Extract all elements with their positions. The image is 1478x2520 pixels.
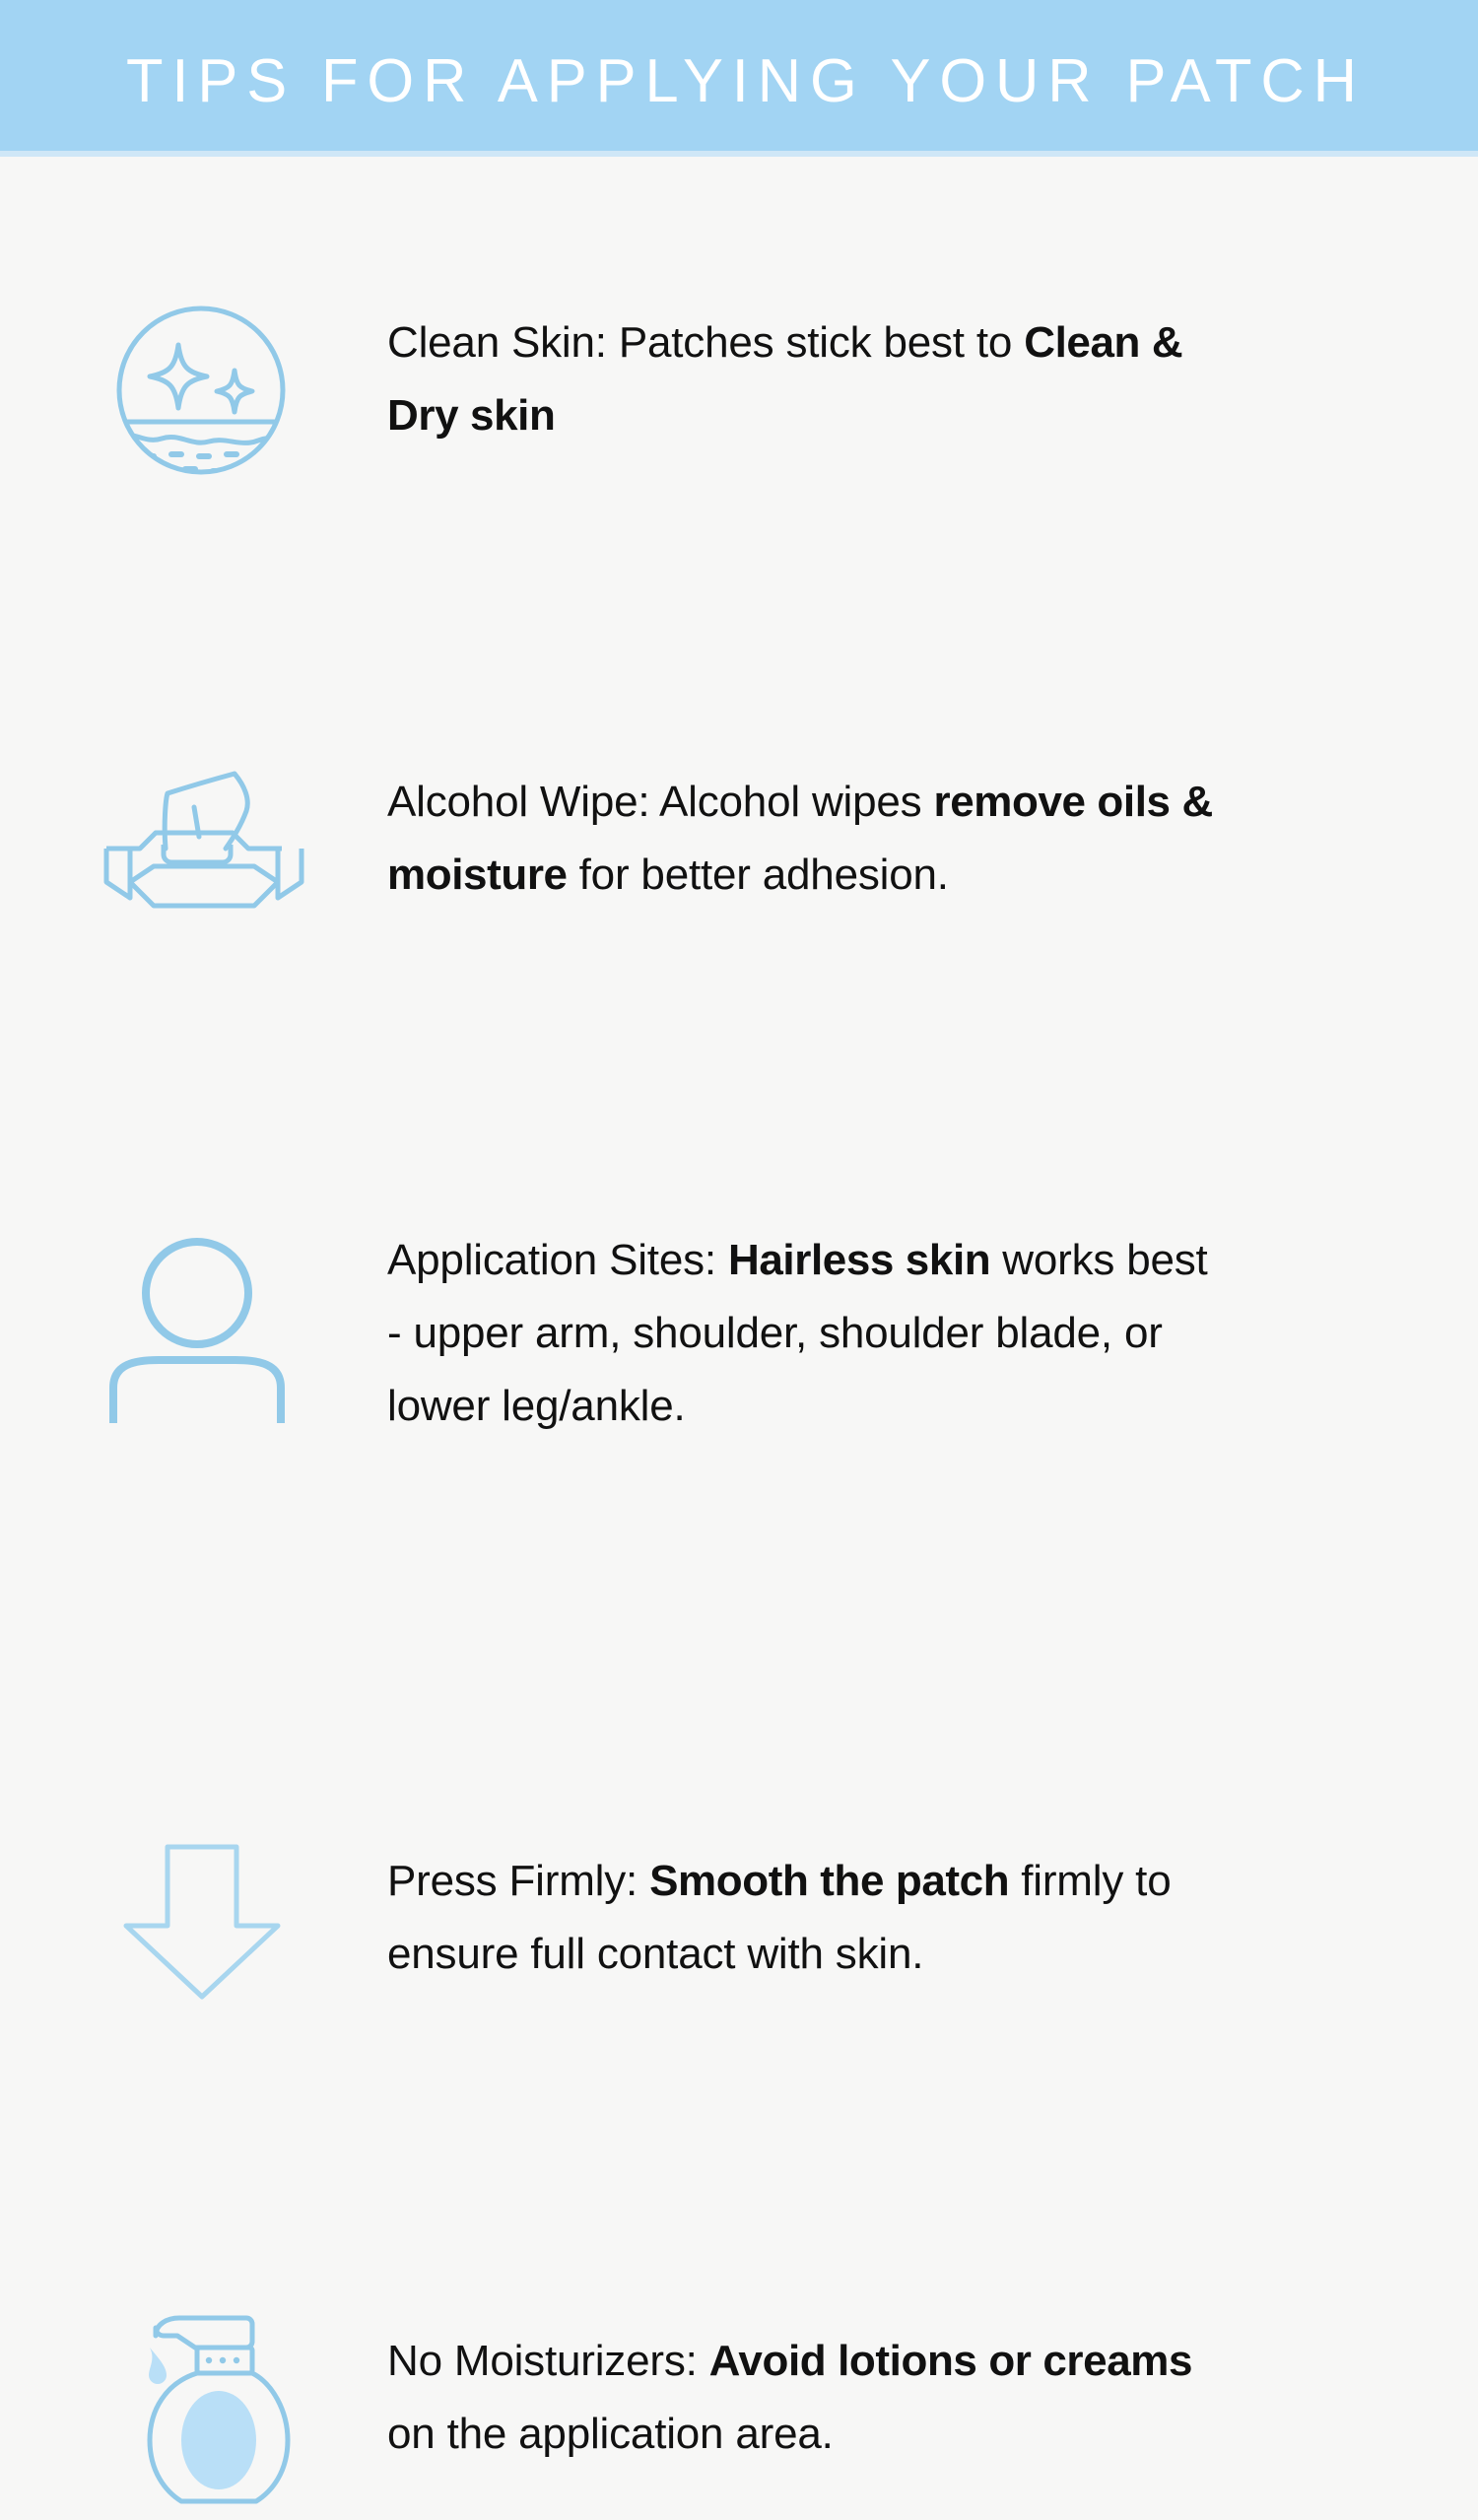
tip-text-application-sites: Application Sites: Hairless skin works b…: [387, 1224, 1412, 1443]
person-icon-wrapper: [103, 1236, 320, 1423]
tip-text-run: firmly to: [1009, 1857, 1171, 1905]
tip-text-emphasis: Hairless skin: [728, 1236, 990, 1284]
person-icon: [103, 1236, 291, 1423]
tip-text-line: lower leg/ankle.: [387, 1370, 1412, 1443]
tip-text-run: on the application area.: [387, 2410, 834, 2458]
tip-text-line: Press Firmly: Smooth the patch firmly to: [387, 1845, 1412, 1918]
tip-text-run: works best: [990, 1236, 1207, 1284]
lotion-bottle-icon-wrapper: [110, 2308, 327, 2520]
tip-text-clean-skin: Clean Skin: Patches stick best to Clean …: [387, 306, 1412, 452]
tip-text-run: ensure full contact with skin.: [387, 1930, 923, 1978]
tip-text-run: Press Firmly:: [387, 1857, 649, 1905]
header-underline: [0, 151, 1478, 157]
tip-text-line: on the application area.: [387, 2398, 1412, 2471]
tip-text-line: No Moisturizers: Avoid lotions or creams: [387, 2325, 1412, 2398]
tip-text-emphasis: moisture: [387, 851, 568, 899]
lotion-bottle-icon: [110, 2308, 307, 2520]
tip-text-line: Dry skin: [387, 379, 1412, 452]
tip-text-run: Application Sites:: [387, 1236, 728, 1284]
infographic-page: TIPS FOR APPLYING YOUR PATCH: [0, 0, 1478, 1478]
wipes-packet-icon: [95, 766, 313, 914]
clean-skin-icon-wrapper: [110, 300, 327, 481]
tip-text-emphasis: Clean &: [1024, 318, 1182, 367]
down-arrow-icon: [110, 1837, 293, 2005]
tip-text-line: Application Sites: Hairless skin works b…: [387, 1224, 1412, 1297]
tip-text-emphasis: remove oils &: [933, 778, 1212, 826]
down-arrow-icon-wrapper: [110, 1837, 327, 2005]
tip-text-no-moisturizers: No Moisturizers: Avoid lotions or creams…: [387, 2325, 1412, 2471]
tip-text-run: lower leg/ankle.: [387, 1382, 686, 1430]
wipes-packet-icon-wrapper: [95, 766, 311, 914]
clean-skin-icon: [110, 300, 292, 481]
tip-text-run: Clean Skin: Patches stick best to: [387, 318, 1024, 367]
page-title: TIPS FOR APPLYING YOUR PATCH: [126, 49, 1366, 114]
tip-text-line: - upper arm, shoulder, shoulder blade, o…: [387, 1297, 1412, 1370]
tip-text-emphasis: Smooth the patch: [649, 1857, 1009, 1905]
tip-text-line: moisture for better adhesion.: [387, 839, 1412, 912]
tip-text-line: Alcohol Wipe: Alcohol wipes remove oils …: [387, 766, 1412, 839]
tip-text-alcohol-wipe: Alcohol Wipe: Alcohol wipes remove oils …: [387, 766, 1412, 912]
tip-text-line: ensure full contact with skin.: [387, 1918, 1412, 1991]
tip-text-run: - upper arm, shoulder, shoulder blade, o…: [387, 1309, 1163, 1357]
tip-text-press-firmly: Press Firmly: Smooth the patch firmly to…: [387, 1845, 1412, 1991]
tip-text-run: No Moisturizers:: [387, 2337, 709, 2385]
tip-text-run: for better adhesion.: [568, 851, 949, 899]
tip-text-emphasis: Avoid lotions or creams: [709, 2337, 1192, 2385]
tip-text-emphasis: Dry skin: [387, 391, 555, 440]
tip-text-run: Alcohol Wipe: Alcohol wipes: [387, 778, 933, 826]
tip-text-line: Clean Skin: Patches stick best to Clean …: [387, 306, 1412, 379]
